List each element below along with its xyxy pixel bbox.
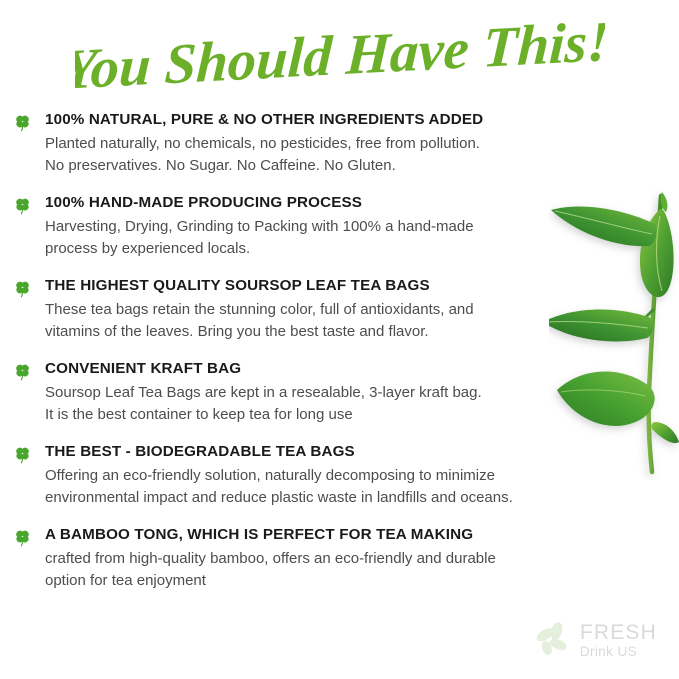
clover-icon — [13, 445, 32, 464]
logo-secondary-text: Drink US — [580, 645, 657, 659]
feature-item: CONVENIENT KRAFT BAG Soursop Leaf Tea Ba… — [0, 359, 679, 425]
clover-icon — [13, 279, 32, 298]
feature-heading: THE BEST - BIODEGRADABLE TEA BAGS — [45, 442, 679, 462]
brand-logo: FRESH Drink US — [532, 619, 657, 661]
feature-heading: THE HIGHEST QUALITY SOURSOP LEAF TEA BAG… — [45, 276, 679, 296]
leaf-cluster-icon — [532, 619, 574, 661]
logo-wordmark: FRESH Drink US — [580, 622, 657, 659]
feature-body: Offering an eco-friendly solution, natur… — [45, 465, 670, 508]
feature-item: THE BEST - BIODEGRADABLE TEA BAGS Offeri… — [0, 442, 679, 508]
feature-list: 100% NATURAL, PURE & NO OTHER INGREDIENT… — [0, 110, 679, 591]
feature-body-line: Offering an eco-friendly solution, natur… — [45, 465, 670, 487]
feature-heading: A BAMBOO TONG, WHICH IS PERFECT FOR TEA … — [45, 525, 679, 545]
feature-body-line: crafted from high-quality bamboo, offers… — [45, 548, 670, 570]
clover-icon — [13, 528, 32, 547]
feature-body: Soursop Leaf Tea Bags are kept in a rese… — [45, 382, 670, 425]
feature-heading: 100% NATURAL, PURE & NO OTHER INGREDIENT… — [45, 110, 679, 130]
feature-body-line: process by experienced locals. — [45, 238, 670, 260]
feature-heading: 100% HAND-MADE PRODUCING PROCESS — [45, 193, 679, 213]
feature-body-line: These tea bags retain the stunning color… — [45, 299, 670, 321]
feature-item: A BAMBOO TONG, WHICH IS PERFECT FOR TEA … — [0, 525, 679, 591]
feature-body-line: No preservatives. No Sugar. No Caffeine.… — [45, 155, 670, 177]
feature-item: 100% HAND-MADE PRODUCING PROCESS Harvest… — [0, 193, 679, 259]
clover-icon — [13, 196, 32, 215]
feature-heading: CONVENIENT KRAFT BAG — [45, 359, 679, 379]
feature-body-line: vitamins of the leaves. Bring you the be… — [45, 321, 670, 343]
feature-body-line: Soursop Leaf Tea Bags are kept in a rese… — [45, 382, 670, 404]
clover-icon — [13, 362, 32, 381]
feature-item: 100% NATURAL, PURE & NO OTHER INGREDIENT… — [0, 110, 679, 176]
feature-body-line: Harvesting, Drying, Grinding to Packing … — [45, 216, 670, 238]
title-script-lettering: You Should Have This! — [75, 21, 605, 97]
feature-body: These tea bags retain the stunning color… — [45, 299, 670, 342]
feature-body: Harvesting, Drying, Grinding to Packing … — [45, 216, 670, 259]
clover-icon — [13, 113, 32, 132]
product-feature-graphic: You Should Have This! 100% NATURAL, PURE… — [0, 0, 679, 679]
logo-primary-text: FRESH — [580, 622, 657, 643]
feature-body: crafted from high-quality bamboo, offers… — [45, 548, 670, 591]
feature-body-line: It is the best container to keep tea for… — [45, 404, 670, 426]
feature-body-line: option for tea enjoyment — [45, 570, 670, 592]
feature-body-line: environmental impact and reduce plastic … — [45, 487, 670, 509]
feature-item: THE HIGHEST QUALITY SOURSOP LEAF TEA BAG… — [0, 276, 679, 342]
feature-body: Planted naturally, no chemicals, no pest… — [45, 133, 670, 176]
page-title: You Should Have This! — [0, 16, 679, 102]
feature-body-line: Planted naturally, no chemicals, no pest… — [45, 133, 670, 155]
title-text: You Should Have This! — [75, 21, 605, 97]
